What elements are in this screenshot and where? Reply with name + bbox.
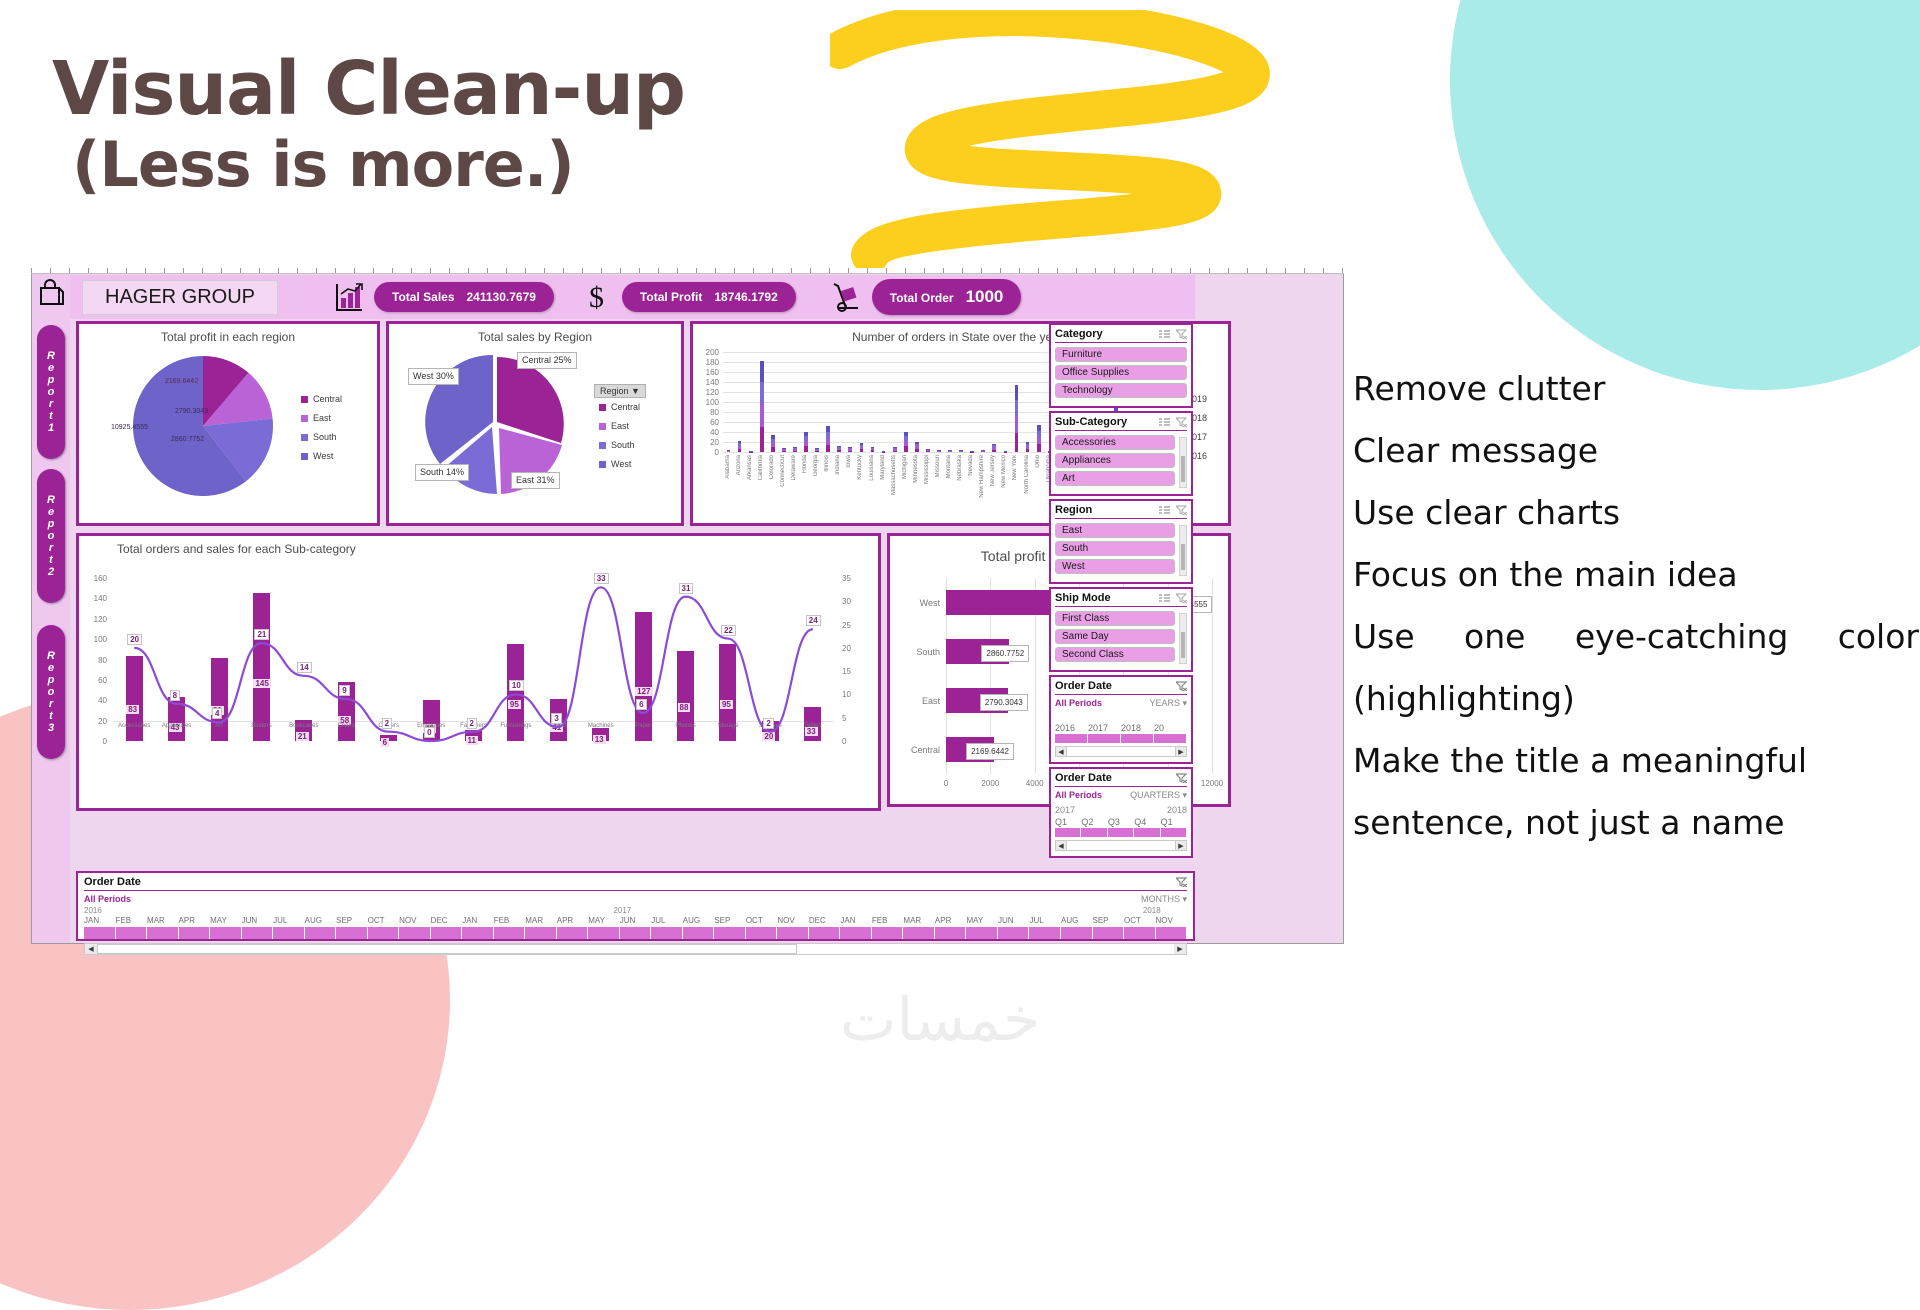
slicer-item[interactable]: Art [1055, 471, 1175, 486]
timeline-title: Order Date [1055, 680, 1112, 692]
slicer-item[interactable]: Accessories [1055, 435, 1175, 450]
timeline-month[interactable]: NOV [777, 916, 809, 925]
timeline-year: 2016 [84, 906, 613, 915]
kpi-value: 1000 [966, 287, 1004, 307]
timeline-bar[interactable] [84, 927, 1187, 939]
timeline-segment[interactable] [935, 927, 967, 939]
sidebar-item-report-2[interactable]: Report2 [37, 469, 65, 603]
line-data-label: 0 [424, 727, 434, 738]
y-axis-tick: 20 [83, 717, 107, 726]
timeline-month[interactable]: DEC [809, 916, 841, 925]
y-axis-tick: 60 [699, 418, 719, 427]
scroll-right-icon[interactable]: ▶ [1174, 944, 1186, 954]
pie-legend: Central East South West [599, 402, 640, 478]
chart-title: Total profit in each region [79, 324, 377, 344]
timeline-month[interactable]: OCT [368, 916, 400, 925]
timeline-segment[interactable] [777, 927, 809, 939]
x-axis-tick: California [758, 455, 764, 480]
bar-segment [727, 451, 731, 452]
bottom-timeline-slicer: Order Date All Periods MONTHS ▾ 20162017… [76, 871, 1195, 941]
clear-filter-icon[interactable] [1176, 877, 1187, 887]
x-axis-tick: Art [197, 723, 241, 729]
timeline-month[interactable]: SEP [714, 916, 746, 925]
timeline-segment[interactable] [336, 927, 368, 939]
bar-segment [826, 445, 830, 452]
timeline-month[interactable]: MAR [147, 916, 179, 925]
multi-select-icon[interactable] [1159, 329, 1170, 339]
clear-filter-icon[interactable] [1176, 593, 1187, 603]
list-item: Use clear charts [1353, 482, 1919, 544]
line-data-label: 2 [382, 718, 392, 729]
bar-data-label: 83 [126, 705, 139, 714]
timeline-segment[interactable] [651, 927, 683, 939]
legend-label: West [611, 459, 631, 469]
timeline-month[interactable]: NOV [399, 916, 431, 925]
dollar-sign-icon: $ [586, 280, 612, 314]
bar-segment [893, 448, 897, 449]
clear-filter-icon[interactable] [1176, 773, 1187, 783]
clear-filter-icon[interactable] [1176, 417, 1187, 427]
timeline-unit[interactable]: YEARS ▾ [1149, 698, 1187, 709]
line-data-label: 2 [467, 718, 477, 729]
slicer-title: Ship Mode [1055, 592, 1111, 604]
bar-segment [771, 447, 775, 452]
timeline-month[interactable]: FEB [494, 916, 526, 925]
y-axis-tick: 0 [83, 737, 107, 746]
legend-item: East [599, 421, 640, 431]
bar-chart-growth-icon [334, 281, 364, 313]
timeline-month-labels: JANFEBMARAPRMAYJUNJULAUGSEPOCTNOVDECJANF… [84, 916, 1187, 925]
bar-segment [860, 449, 864, 452]
timeline-segment[interactable] [872, 927, 904, 939]
timeline-month[interactable]: APR [179, 916, 211, 925]
timeline-year-row: 201620172018 [84, 906, 1187, 915]
multi-select-icon[interactable] [1159, 417, 1170, 427]
timeline-period: All Periods [1055, 790, 1102, 801]
timeline-month[interactable]: APR [935, 916, 967, 925]
bar-data-label: 2790.3043 [980, 694, 1028, 711]
bar-segment [760, 427, 764, 452]
y-axis-tick: 80 [83, 656, 107, 665]
y-axis-tick: 60 [83, 676, 107, 685]
x-axis-tick: Kentucky [857, 455, 863, 480]
line-data-label: 33 [594, 573, 609, 584]
bar-data-label: 6 [381, 738, 389, 747]
bar-segment [848, 451, 852, 452]
bar-segment [871, 449, 875, 450]
multi-select-icon[interactable] [1159, 593, 1170, 603]
timeline-month[interactable]: JUN [998, 916, 1030, 925]
slicer-item[interactable]: Technology [1055, 383, 1187, 398]
x-axis-tick: Georgia [813, 455, 819, 476]
timeline-bar[interactable] [1055, 734, 1187, 743]
x-axis-tick: Tables [791, 723, 835, 729]
timeline-label: 2018 [1121, 723, 1154, 733]
timeline-title: Order Date [1055, 772, 1112, 784]
bar-data-label: 21 [296, 732, 309, 741]
y2-axis-tick: 20 [842, 644, 851, 653]
timeline-month[interactable]: DEC [431, 916, 463, 925]
bar-segment [1026, 449, 1030, 452]
scroll-left-icon[interactable]: ◀ [85, 944, 97, 954]
slicer-ship-mode: Ship Mode First Class Same Day Second Cl… [1049, 587, 1193, 672]
chart-panel-profit-pie: Total profit in each region 2169.6442 27… [76, 321, 380, 526]
timeline-segment[interactable] [840, 927, 872, 939]
slide-title: Visual Clean-up (Less is more.) [52, 48, 685, 200]
x-axis-tick: New Hampshire [979, 455, 985, 498]
slicer-title: Category [1055, 328, 1103, 340]
x-axis-tick: Florida [802, 455, 808, 473]
bar-segment [893, 447, 897, 448]
sidebar-item-report-3[interactable]: Report3 [37, 625, 65, 759]
subcategory-combo-plot: 0204060801001201401600510152025303583Acc… [79, 554, 878, 809]
bar-segment [815, 451, 819, 452]
x-axis-tick: Paper [621, 723, 665, 729]
timeline-segment[interactable] [525, 927, 557, 939]
bar-segment [904, 432, 908, 437]
kpi-total-profit: Total Profit 18746.1792 [622, 282, 796, 312]
slicer-header: Sub-Category [1055, 416, 1187, 431]
y-axis-tick: East [894, 696, 940, 706]
bar-segment [893, 449, 897, 450]
slicer-item[interactable]: East [1055, 523, 1175, 538]
legend-label: West [313, 451, 333, 461]
bar-segment [926, 450, 930, 451]
timeline-month[interactable]: FEB [116, 916, 148, 925]
kpi-total-sales: Total Sales 241130.7679 [374, 282, 554, 312]
x-axis-tick: Connecticut [780, 455, 786, 487]
timeline-period: All Periods [1055, 698, 1102, 709]
timeline-segment[interactable] [399, 927, 431, 939]
x-axis-tick: Delaware [791, 455, 797, 480]
dashboard-window: Report1 Report2 Report3 HAGER GROUP Tota… [31, 272, 1344, 944]
legend-item: Central [599, 402, 640, 412]
timeline-segment[interactable] [210, 927, 242, 939]
timeline-subheader: All Periods YEARS ▾ [1055, 698, 1187, 709]
bar-segment [815, 450, 819, 451]
y-axis-tick: 100 [699, 398, 719, 407]
timeline-segment[interactable] [683, 927, 715, 939]
bar-segment [904, 441, 908, 446]
pie-slice-label-central: 2169.6442 [165, 378, 198, 385]
timeline-month[interactable]: FEB [872, 916, 904, 925]
legend-item: South [301, 432, 342, 442]
bar-segment [837, 450, 841, 452]
timeline-segment[interactable] [588, 927, 620, 939]
pie-callout-west: West 30% [408, 368, 459, 385]
timeline-segment[interactable] [1029, 927, 1061, 939]
bar [635, 612, 652, 741]
x-axis-tick: Arizona [736, 455, 742, 475]
timeline-month[interactable]: JAN [840, 916, 872, 925]
timeline-segment[interactable] [179, 927, 211, 939]
line-data-label: 4 [212, 708, 222, 719]
slicer-scrollbar[interactable] [1179, 437, 1187, 488]
timeline-month[interactable]: OCT [746, 916, 778, 925]
clear-filter-icon[interactable] [1176, 681, 1187, 691]
y-axis-tick: 140 [83, 594, 107, 603]
bar-segment [782, 451, 786, 452]
timeline-segment[interactable] [147, 927, 179, 939]
bar-segment [837, 449, 841, 451]
y2-axis-tick: 15 [842, 667, 851, 676]
dashboard-header: HAGER GROUP Total Sales 241130.7679 $ To… [70, 275, 1195, 319]
bar-segment [727, 450, 731, 451]
timeline-segment[interactable] [84, 927, 116, 939]
bar-segment [871, 448, 875, 449]
bar-segment [760, 403, 764, 427]
pie-slice-label-south: 2860.7752 [171, 436, 204, 443]
x-axis-tick: Missouri [935, 455, 941, 477]
timeline-month[interactable]: AUG [305, 916, 337, 925]
kpi-label: Total Order [890, 291, 954, 305]
slide-title-line1: Visual Clean-up [52, 48, 685, 130]
timeline-year-row: 2017 2018 [1055, 805, 1187, 815]
x-axis-tick: Binders [239, 723, 283, 729]
pie-legend: Central East South West [301, 394, 342, 470]
slide-title-line2: (Less is more.) [72, 130, 685, 200]
line-data-label: 22 [721, 625, 736, 636]
timeline-month[interactable]: MAR [903, 916, 935, 925]
timeline-segment[interactable] [305, 927, 337, 939]
bar-segment [904, 446, 908, 452]
timeline-month[interactable]: JUN [242, 916, 274, 925]
timeline-segment[interactable] [746, 927, 778, 939]
bar-segment [727, 451, 731, 452]
bar-segment [926, 451, 930, 452]
bar-segment [1037, 425, 1041, 431]
x-axis-tick: 0 [932, 779, 960, 788]
bar-segment [1026, 442, 1030, 444]
x-axis-tick: Accessories [112, 723, 156, 729]
svg-text:$: $ [589, 281, 604, 314]
timeline-segment[interactable] [273, 927, 305, 939]
timeline-segment[interactable] [494, 927, 526, 939]
x-axis-tick: 4000 [1021, 779, 1049, 788]
list-item: Focus on the main idea [1353, 544, 1919, 606]
timeline-year: 2018 [1143, 906, 1187, 915]
slicer-title: Region [1055, 504, 1092, 516]
timeline-month[interactable]: MAY [588, 916, 620, 925]
timeline-segment[interactable] [620, 927, 652, 939]
timeline-segment[interactable] [1124, 927, 1156, 939]
hand-truck-icon [828, 280, 862, 314]
slicer-scrollbar[interactable] [1179, 613, 1187, 664]
timeline-label: Q4 [1134, 817, 1160, 827]
kpi-value: 18746.1792 [714, 290, 777, 304]
sidebar-item-report-1[interactable]: Report1 [37, 325, 65, 459]
scroll-right-icon[interactable]: ▶ [1175, 747, 1186, 756]
y-axis-tick: 40 [699, 428, 719, 437]
timeline-month[interactable]: AUG [683, 916, 715, 925]
timeline-segment[interactable] [242, 927, 274, 939]
bar-segment [804, 432, 808, 437]
clear-filter-icon[interactable] [1176, 505, 1187, 515]
timeline-month[interactable]: MAY [966, 916, 998, 925]
timeline-month[interactable]: JAN [462, 916, 494, 925]
x-axis-tick: New Jersey [990, 455, 996, 486]
bar-segment [760, 361, 764, 382]
slicer-scrollbar[interactable] [1179, 525, 1187, 576]
bar-data-label: 13 [593, 735, 606, 744]
timeline-month[interactable]: SEP [1093, 916, 1125, 925]
pie-callout-south: South 14% [415, 464, 469, 481]
list-item: Use one eye-catching color (highlighting… [1353, 606, 1919, 730]
timeline-segment[interactable] [431, 927, 463, 939]
timeline-unit[interactable]: QUARTERS ▾ [1130, 790, 1187, 801]
x-axis-tick: Massachusetts [891, 455, 897, 495]
bar-segment [804, 441, 808, 446]
slicer-item[interactable]: Second Class [1055, 647, 1175, 662]
bar-segment [793, 449, 797, 450]
region-filter-pill[interactable]: Region ▼ [594, 384, 646, 398]
kpi-value: 241130.7679 [467, 290, 536, 304]
legend-label: South [313, 432, 337, 442]
slicer-item[interactable]: Furniture [1055, 347, 1187, 362]
bar-segment [915, 449, 919, 452]
line-data-label: 31 [679, 583, 694, 594]
x-axis-tick: Michigan [902, 455, 908, 479]
bar-segment [837, 447, 841, 448]
y-axis-tick: 120 [83, 615, 107, 624]
takeaway-list: Remove clutter Clear message Use clear c… [1353, 358, 1919, 854]
x-axis-tick: Mississippi [924, 455, 930, 484]
bar-segment [826, 438, 830, 445]
slicer-header: Ship Mode [1055, 592, 1187, 607]
timeline-segment[interactable] [714, 927, 746, 939]
legend-item: South [599, 440, 640, 450]
legend-label: East [313, 413, 331, 423]
timeline-subheader: All Periods QUARTERS ▾ [1055, 790, 1187, 801]
y-axis-tick: 20 [699, 438, 719, 447]
bar-data-label: 95 [508, 700, 521, 709]
bar-segment [959, 451, 963, 452]
timeline-segment[interactable] [1093, 927, 1125, 939]
x-axis-tick: Machines [579, 723, 623, 729]
timeline-month[interactable]: JAN [84, 916, 116, 925]
timeline-segment[interactable] [462, 927, 494, 939]
timeline-slicer-years: Order Date All Periods YEARS ▾ 2016 2017… [1049, 675, 1193, 764]
bar-segment [893, 451, 897, 452]
timeline-month[interactable]: MAR [525, 916, 557, 925]
bar-segment [871, 447, 875, 448]
timeline-month[interactable]: MAY [210, 916, 242, 925]
y-axis-tick: 180 [699, 358, 719, 367]
x-axis-tick: Chairs [324, 723, 368, 729]
slicer-item[interactable]: West [1055, 559, 1175, 574]
x-axis-tick: Bookcases [282, 723, 326, 729]
bar-segment [1026, 444, 1030, 446]
timeline-header: Order Date [1055, 680, 1187, 695]
legend-label: East [611, 421, 629, 431]
timeline-segment[interactable] [368, 927, 400, 939]
timeline-scrollbar[interactable]: ◀ ▶ [84, 943, 1187, 955]
timeline-segment[interactable] [557, 927, 589, 939]
slicer-panel: Category Furniture Office Supplies Techn… [1049, 323, 1193, 867]
timeline-segment[interactable] [1156, 927, 1188, 939]
timeline-unit[interactable]: MONTHS ▾ [1141, 894, 1187, 905]
timeline-segment[interactable] [966, 927, 998, 939]
bar-segment [915, 444, 919, 446]
line-data-label: 6 [636, 699, 646, 710]
slicer-header: Category [1055, 328, 1187, 343]
bar-segment [981, 450, 985, 451]
x-axis-tick: Colorado [769, 455, 775, 479]
timeline-segment[interactable] [1061, 927, 1093, 939]
slicer-category: Category Furniture Office Supplies Techn… [1049, 323, 1193, 408]
slicer-item[interactable]: South [1055, 541, 1175, 556]
timeline-month[interactable]: AUG [1061, 916, 1093, 925]
slicer-item[interactable]: Appliances [1055, 453, 1175, 468]
scroll-left-icon[interactable]: ◀ [1056, 747, 1067, 756]
timeline-scrollbar[interactable]: ◀ ▶ [1055, 746, 1187, 757]
timeline-month[interactable]: JUL [1029, 916, 1061, 925]
timeline-month[interactable]: SEP [336, 916, 368, 925]
timeline-segment[interactable] [809, 927, 841, 939]
bar-segment [1015, 385, 1019, 401]
timeline-quarter-labels: Q1 Q2 Q3 Q4 Q1 [1055, 817, 1187, 827]
slicer-item[interactable]: Same Day [1055, 629, 1175, 644]
x-axis-tick: New York [1012, 455, 1018, 480]
multi-select-icon[interactable] [1159, 505, 1170, 515]
timeline-header: Order Date [1055, 772, 1187, 787]
legend-item: Central [301, 394, 342, 404]
line-data-label: 14 [297, 662, 312, 673]
scroll-left-icon[interactable]: ◀ [1056, 841, 1067, 850]
shopping-bag-icon [39, 278, 65, 308]
bar [168, 697, 185, 741]
slicer-item[interactable]: Office Supplies [1055, 365, 1187, 380]
scroll-right-icon[interactable]: ▶ [1175, 841, 1186, 850]
legend-label: South [611, 440, 635, 450]
timeline-month[interactable]: APR [557, 916, 589, 925]
bar-segment [937, 451, 941, 452]
slicer-header: Region [1055, 504, 1187, 519]
x-axis-tick: Iowa [846, 455, 852, 468]
timeline-bar[interactable] [1055, 828, 1187, 837]
timeline-month[interactable]: OCT [1124, 916, 1156, 925]
bar-segment [738, 446, 742, 449]
timeline-month[interactable]: NOV [1156, 916, 1188, 925]
y2-axis-tick: 35 [842, 574, 851, 583]
timeline-month[interactable]: JUL [273, 916, 305, 925]
timeline-segment[interactable] [903, 927, 935, 939]
x-axis-tick: Louisiana [869, 455, 875, 481]
timeline-label: Q1 [1055, 817, 1081, 827]
region-filter-label: Region [600, 386, 629, 396]
timeline-month[interactable]: JUL [651, 916, 683, 925]
bar-segment [992, 447, 996, 449]
slicer-item[interactable]: First Class [1055, 611, 1175, 626]
bar-segment [804, 436, 808, 441]
bar-data-label: 20 [762, 732, 775, 741]
bar-segment [926, 449, 930, 450]
x-axis-tick: Maryland [880, 455, 886, 480]
timeline-segment[interactable] [116, 927, 148, 939]
bar-segment [992, 450, 996, 452]
chart-panel-subcategory-combo: Total orders and sales for each Sub-cate… [76, 533, 881, 811]
pie-callout-east: East 31% [511, 472, 560, 489]
clear-filter-icon[interactable] [1176, 329, 1187, 339]
x-axis-tick: Alabama [725, 455, 731, 479]
y2-axis-tick: 30 [842, 597, 851, 606]
timeline-scrollbar[interactable]: ◀ ▶ [1055, 840, 1187, 851]
legend-item: West [599, 459, 640, 469]
bar-segment [1037, 444, 1041, 452]
timeline-segment[interactable] [998, 927, 1030, 939]
x-axis-tick: Furnishings [494, 723, 538, 729]
timeline-month[interactable]: JUN [620, 916, 652, 925]
